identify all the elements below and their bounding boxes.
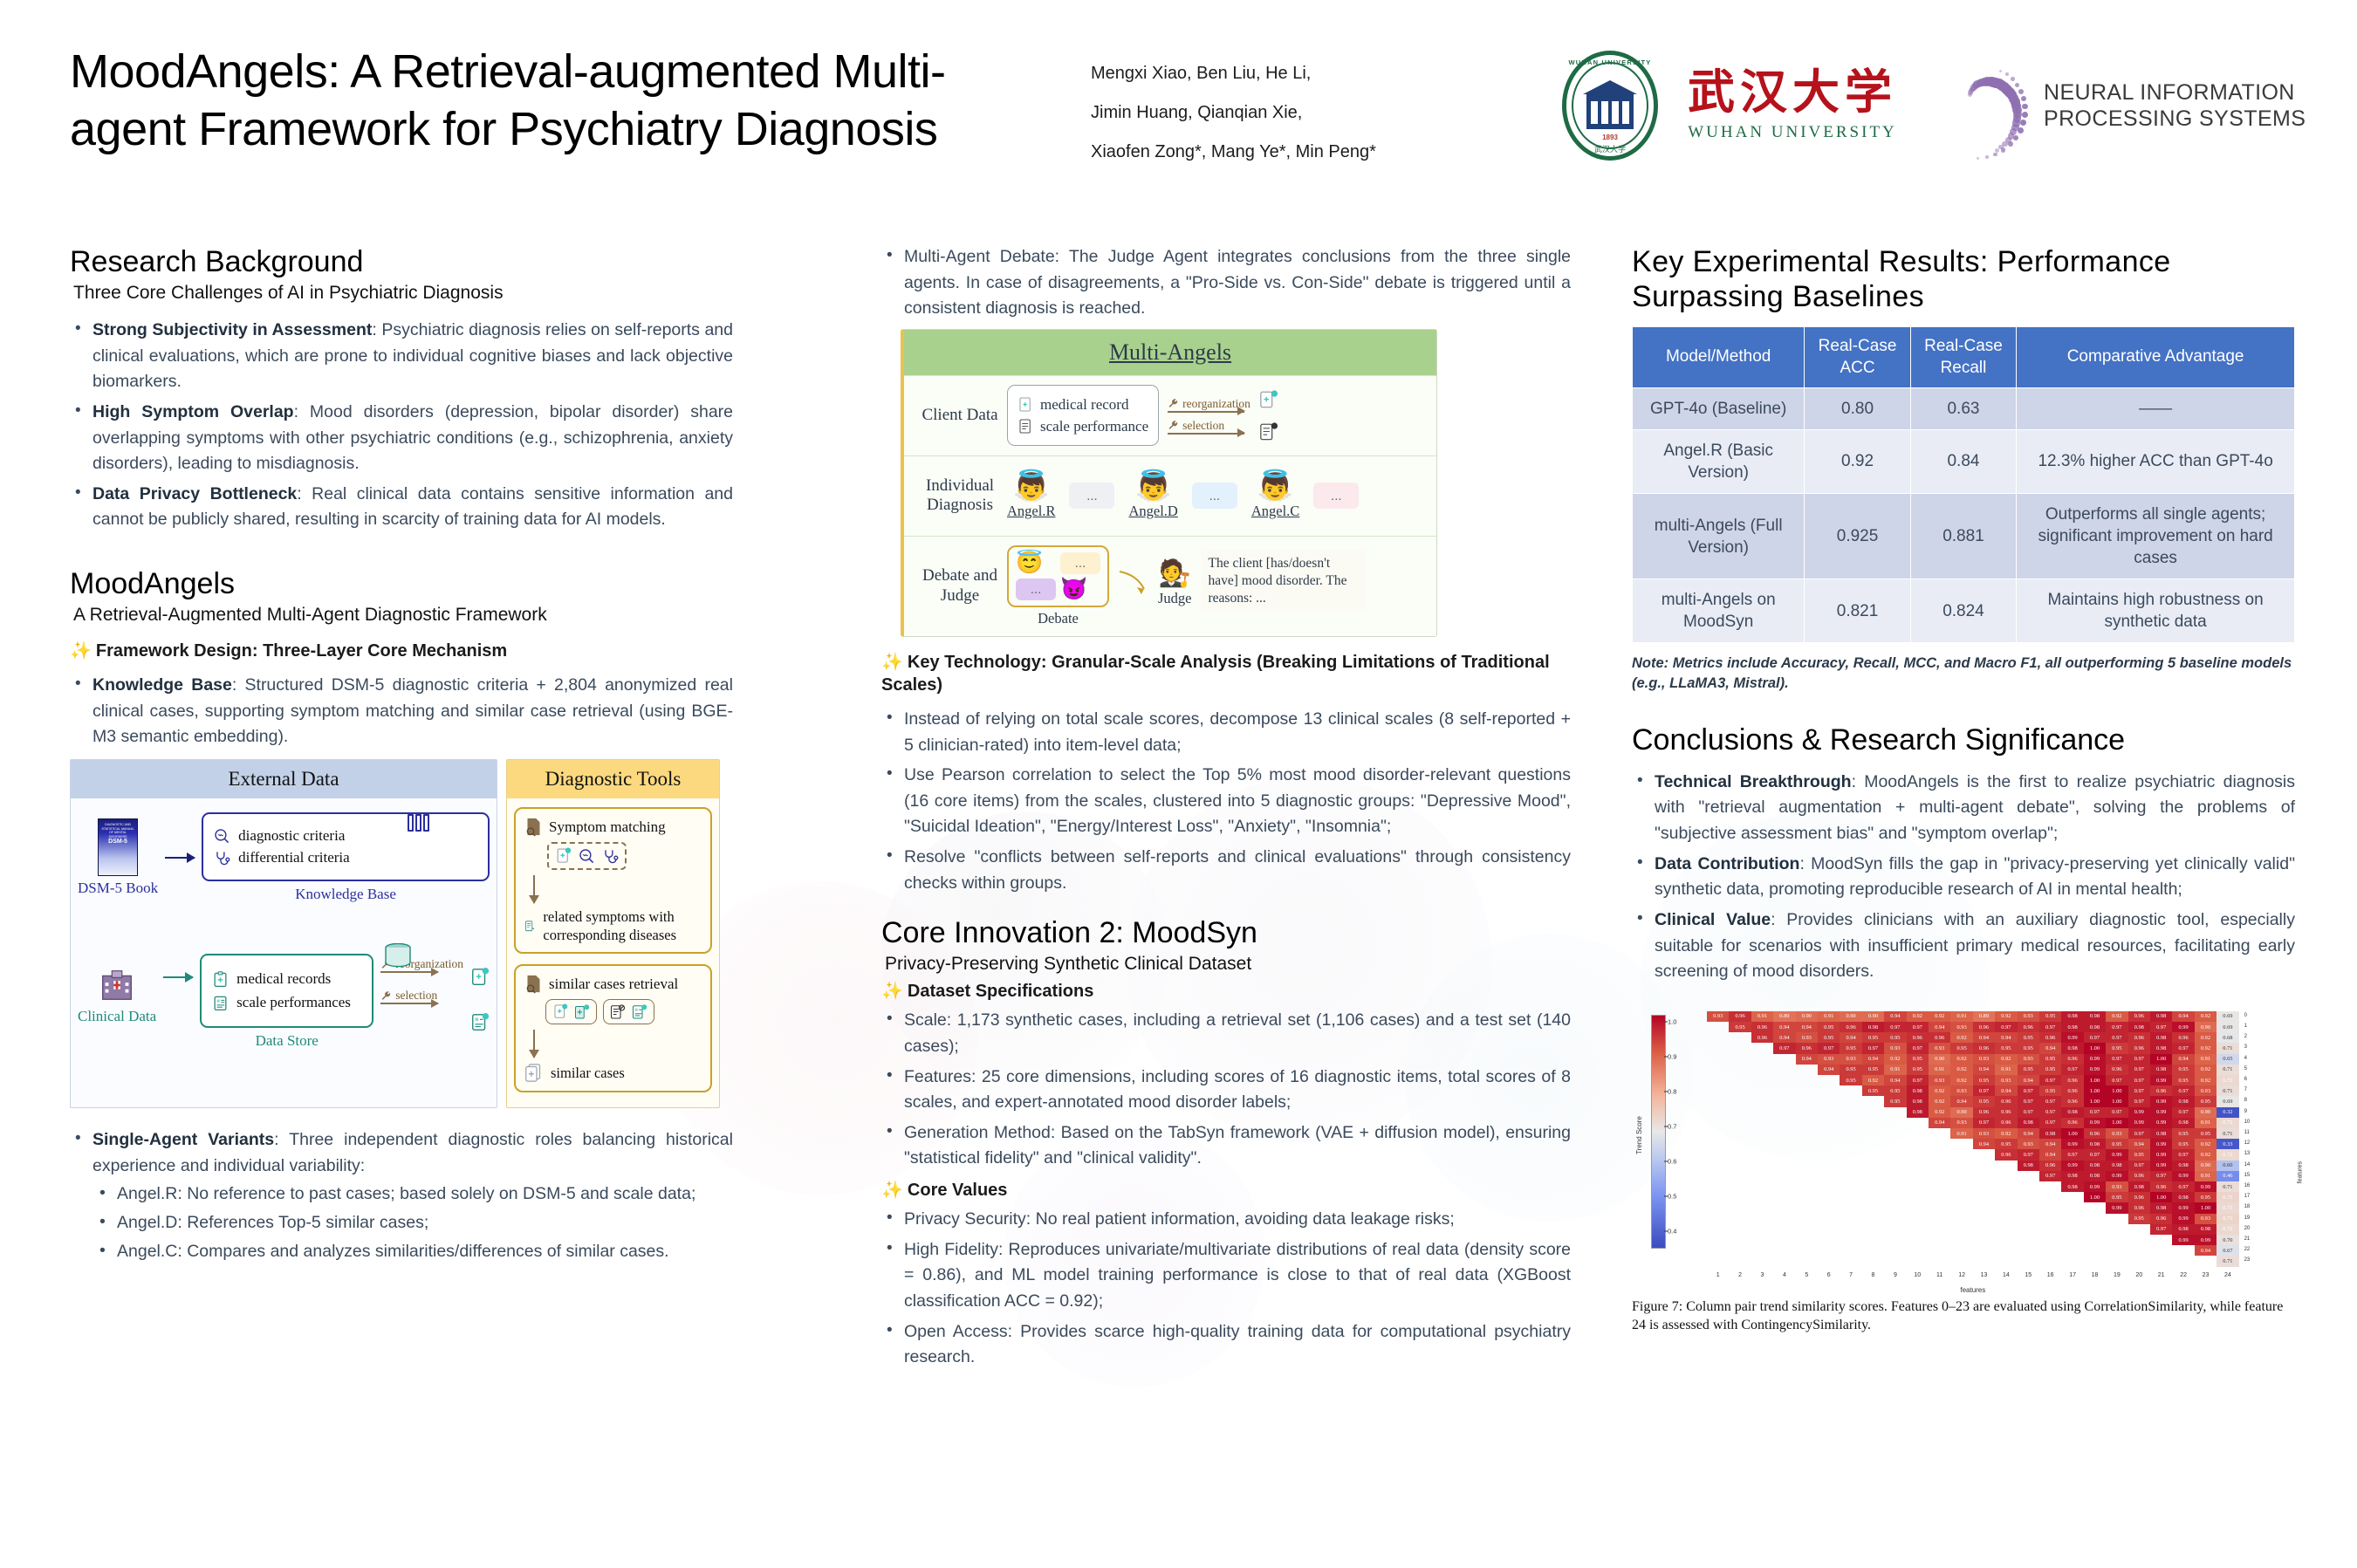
arrow-right-icon (380, 971, 438, 973)
dsm5-cover-main-text: DSM-5 (99, 839, 137, 845)
heatmap-cell: 0.95 (2106, 1192, 2127, 1202)
cell-recall: 0.881 (1910, 494, 2016, 579)
heatmap-cell: 0.92 (2106, 1011, 2127, 1022)
heatmap-cell: 0.94 (2172, 1054, 2194, 1065)
cell-model: GPT-4o (Baseline) (1633, 387, 1805, 429)
list-item: Angel.C: Compares and analyzes similarit… (92, 1239, 733, 1265)
heatmap-cell: 0.96 (2084, 1128, 2106, 1139)
table-note: Note: Metrics include Accuracy, Recall, … (1632, 654, 2295, 692)
heatmap-cell: 1.00 (2084, 1096, 2106, 1106)
tool-title-row: similar cases retrieval (524, 974, 702, 994)
agent-name: Angel.D (1128, 503, 1177, 520)
section-title-research-background: Research Background (70, 244, 733, 279)
heatmap-cell: 0.97 (2128, 1128, 2150, 1139)
neurips-dots-icon (1927, 54, 2030, 157)
heatmap-cell: 0.94 (2172, 1011, 2194, 1022)
heatmap-cell: 0.97 (2172, 1107, 2194, 1118)
ds-item-label: scale performances (236, 994, 351, 1011)
heatmap-cell: 0.92 (1950, 1054, 1972, 1065)
colorbar-tick: 0.9 (1668, 1052, 1676, 1060)
heatmap-cell: 0.72 (2217, 1224, 2238, 1235)
clinical-data-label: Clinical Data (78, 1008, 156, 1025)
flow-selection: selection (1168, 419, 1250, 435)
wuhan-chinese-wordmark: 武汉大学 (1688, 69, 1897, 116)
heatmap-cell: 0.90 (2195, 1022, 2217, 1032)
heatmap-cell: 0.99 (2150, 1149, 2172, 1160)
y-axis-label: features (2297, 1161, 2303, 1183)
heatmap-cell: 0.97 (2084, 1032, 2106, 1043)
heatmap-cell: 0.95 (1818, 1022, 1840, 1032)
heatmap-cell: 0.99 (2195, 1181, 2217, 1192)
heatmap-row-label: 17 (2244, 1194, 2257, 1199)
heatmap-cell: 1.00 (2150, 1054, 2172, 1065)
debate-bubble: ... (1060, 552, 1100, 574)
heatmap-row-label: 0 (2244, 1013, 2257, 1018)
heatmap-column-label: 23 (2197, 1272, 2215, 1278)
heatmap-column-label: 12 (1953, 1272, 1970, 1278)
heatmap-cell: 0.99 (2106, 1149, 2127, 1160)
heatmap-cell: 0.93 (1840, 1054, 1861, 1065)
debate-card: 😇 ... ... 😈 (1007, 545, 1109, 607)
heatmap-cell: 0.90 (2195, 1161, 2217, 1171)
debate-caption: Debate (1038, 610, 1079, 627)
heatmap-cell: 0.93 (1950, 1085, 1972, 1096)
heatmap-cell: 0.73 (2217, 1214, 2238, 1224)
heatmap-cell: 0.97 (1907, 1043, 1929, 1053)
heatmap-cell: 0.95 (1973, 1096, 1995, 1106)
client-data-content: medical record scale performance reorgan… (1007, 385, 1428, 446)
heatmap-cell: 0.98 (2150, 1065, 2172, 1075)
heatmap-column-label: 6 (1820, 1272, 1838, 1278)
heatmap-cell: 0.96 (2150, 1214, 2172, 1224)
heatmap-cell: 0.67 (2217, 1245, 2238, 1256)
dsm5-book-label: DSM-5 Book (78, 880, 158, 897)
database-icon (383, 943, 413, 969)
logo-group: WUHAN UNIVERSITY 1893 武汉大学 武汉大学 WUHAN UN… (1562, 51, 2306, 161)
heatmap-cell: 0.95 (1884, 1085, 1906, 1096)
angel-debater-icon: 😇 (1016, 552, 1056, 574)
heatmap-cell: 0.94 (1796, 1022, 1818, 1032)
heatmap-row-label: 12 (2244, 1140, 2257, 1146)
heatmap-cell: 0.93 (1950, 1118, 1972, 1128)
colorbar-tick: 0.6 (1668, 1157, 1676, 1165)
heatmap-cell: 1.00 (2061, 1128, 2083, 1139)
key-technology-list: Instead of relying on total scale scores… (881, 707, 1571, 896)
framework-design-heading-text: Framework Design: Three-Layer Core Mecha… (96, 641, 507, 661)
debate-judge-content: 😇 ... ... 😈 Debate 🧑‍⚖️ Judge The client… (1007, 545, 1428, 627)
heatmap-cell: 0.91 (1884, 1065, 1906, 1075)
list-item: Technical Breakthrough: MoodAngels is th… (1632, 770, 2295, 847)
heatmap-cell: 0.97 (2128, 1065, 2150, 1075)
heatmap-cell: 0.91 (1995, 1065, 2017, 1075)
kb-item-label: differential criteria (238, 849, 350, 866)
heatmap-cell: 0.95 (2195, 1096, 2217, 1106)
cell-recall: 0.824 (1910, 579, 2016, 643)
heatmap-cell: 0.96 (2128, 1202, 2150, 1213)
column-middle: Multi-Agent Debate: The Judge Agent inte… (881, 244, 1571, 1375)
heatmap-column-label: 7 (1842, 1272, 1860, 1278)
core-values-list: Privacy Security: No real patient inform… (881, 1207, 1571, 1371)
sparkles-icon: ✨ (70, 641, 92, 661)
heatmap-cell: 0.94 (1973, 1032, 1995, 1043)
heatmap-column-label: 24 (2219, 1272, 2237, 1278)
heatmap-cell: 0.97 (2172, 1149, 2194, 1160)
heatmap-cell: 0.94 (1973, 1065, 1995, 1075)
heatmap-row-label: 22 (2244, 1247, 2257, 1252)
heatmap-cell: 0.72 (2217, 1118, 2238, 1128)
heatmap-cell: 0.90 (1862, 1011, 1884, 1022)
heatmap-cell: 0.92 (1884, 1054, 1906, 1065)
heatmap-cell: 0.92 (2195, 1075, 2217, 1085)
tool-result-row: related symptoms with corresponding dise… (524, 908, 702, 944)
record-output-icon (470, 966, 490, 989)
heatmap-cell: 0.72 (2217, 1075, 2238, 1085)
heatmap-cell: 0.95 (1729, 1022, 1751, 1032)
heatmap-row-label: 16 (2244, 1183, 2257, 1188)
sparkles-icon: ✨ (881, 653, 903, 672)
heatmap-cell: 0.71 (2217, 1256, 2238, 1266)
table-row: GPT-4o (Baseline) 0.80 0.63 —— (1633, 387, 2295, 429)
list-item: Data Contribution: MoodSyn fills the gap… (1632, 852, 2295, 903)
heatmap-cell: 0.92 (2195, 1011, 2217, 1022)
heatmap-cell: 0.97 (1862, 1043, 1884, 1053)
heatmap-cell: 1.00 (2150, 1192, 2172, 1202)
heatmap-cell: 0.97 (1884, 1022, 1906, 1032)
heatmap-cell: 0.96 (1840, 1022, 1861, 1032)
heatmap-cell: 0.98 (2061, 1011, 2083, 1022)
flow-label: selection (1182, 419, 1224, 433)
heatmap-cell: 0.96 (1973, 1107, 1995, 1118)
seal-chinese-name: 武汉大学 (1562, 143, 1658, 154)
arrow-right-icon (1168, 433, 1244, 435)
heatmap-row-label: 11 (2244, 1130, 2257, 1135)
agent-output-bubble: ... (1069, 483, 1114, 509)
heatmap-column-label: 14 (1997, 1272, 2015, 1278)
dsm5-book-icon: DIAGNOSTIC AND STATISTICAL MANUAL OF MEN… (98, 818, 138, 876)
cell-acc: 0.80 (1805, 387, 1910, 429)
external-data-panel: External Data DIAGNOSTIC AND STATISTICAL… (70, 759, 497, 1108)
tool-card-similar-cases: similar cases retrieval (514, 964, 712, 1092)
heatmap-cell: 0.97 (2150, 1022, 2172, 1032)
knowledge-base-box: diagnostic criteria differential criteri… (202, 812, 490, 881)
heatmap-cell: 0.94 (1840, 1032, 1861, 1043)
heatmap-cell: 0.65 (2217, 1054, 2238, 1065)
list-item: Data Privacy Bottleneck: Real clinical d… (70, 482, 733, 533)
heatmap-cell: 0.99 (2150, 1161, 2172, 1171)
figure-7-wrapper: 0.40.50.60.70.80.91.0 Trend Score featur… (1632, 1004, 2295, 1335)
clipboard-plus-icon (555, 846, 572, 866)
heatmap-cell: 0.96 (2039, 1161, 2061, 1171)
similar-cases-icon (524, 1063, 543, 1083)
heatmap-cell: 0.96 (1907, 1032, 1929, 1043)
devil-debater-icon: 😈 (1060, 579, 1100, 600)
heatmap-cell: 0.92 (1950, 1065, 1972, 1075)
heatmap-column-label: 22 (2175, 1272, 2192, 1278)
heatmap-cell: 1.00 (2106, 1096, 2127, 1106)
heatmap-cell: 0.95 (1907, 1065, 1929, 1075)
document-search-icon (524, 817, 543, 837)
heatmap-row-label: 9 (2244, 1109, 2257, 1114)
heatmap-cell: 0.98 (2150, 1202, 2172, 1213)
agent-angel-r: 👼 Angel.R (1007, 471, 1055, 520)
cell-model: Angel.R (Basic Version) (1633, 429, 1805, 493)
arrow-down-icon (533, 1030, 535, 1058)
data-store-row: Clinical Data medical records (78, 941, 490, 1050)
heatmap-cell: 0.99 (2150, 1118, 2172, 1128)
heatmap-cell: 0.97 (2172, 1043, 2194, 1053)
section-subtitle-moodsyn: Privacy-Preserving Synthetic Clinical Da… (885, 954, 1571, 975)
heatmap-cell: 1.00 (2084, 1085, 2106, 1096)
heatmap-cell: 0.97 (2018, 1149, 2039, 1160)
cell-model: multi-Angels (Full Version) (1633, 494, 1805, 579)
heatmap-row-label: 8 (2244, 1098, 2257, 1103)
arrow-down-icon (533, 875, 535, 903)
heatmap-cell: 0.97 (2084, 1107, 2106, 1118)
author-line-2: Jimin Huang, Qianqian Xie, (1091, 93, 1545, 133)
debate-judge-row: Debate and Judge 😇 ... ... 😈 Debate 🧑‍⚖️… (904, 536, 1436, 636)
heatmap-cell: 0.97 (2039, 1096, 2061, 1106)
heatmap-cell: 0.92 (2195, 1032, 2217, 1043)
heatmap-cell: 0.95 (1884, 1096, 1906, 1106)
flow-selection: selection (380, 989, 463, 1004)
heatmap-cell: 0.96 (2150, 1181, 2172, 1192)
arrow-right-icon (1168, 411, 1244, 413)
heatmap-row-label: 6 (2244, 1077, 2257, 1082)
heatmap-cell: 0.46 (2217, 1171, 2238, 1181)
heatmap-row-label: 20 (2244, 1226, 2257, 1231)
section-title-moodangels: MoodAngels (70, 566, 733, 601)
arrow-right-icon (380, 1003, 438, 1004)
kb-lead: Knowledge Base (92, 675, 232, 695)
heatmap-column-label: 11 (1931, 1272, 1949, 1278)
list-item: Multi-Agent Debate: The Judge Agent inte… (881, 244, 1571, 322)
heatmap-cell: 0.93 (1929, 1043, 1950, 1053)
cell-recall: 0.84 (1910, 429, 2016, 493)
heatmap-cell: 0.97 (2039, 1075, 2061, 1085)
wuhan-english-wordmark: WUHAN UNIVERSITY (1688, 123, 1897, 142)
multi-angels-title-bar: Multi-Angels (904, 330, 1436, 375)
heatmap-cell: 0.94 (1950, 1096, 1972, 1106)
heatmap-cell: 0.70 (2217, 1235, 2238, 1245)
heatmap-column-label: 9 (1887, 1272, 1904, 1278)
heatmap-cell: 0.93 (2106, 1181, 2127, 1192)
sparkles-icon: ✨ (881, 1181, 903, 1200)
heatmap-cell: 0.94 (1973, 1139, 1995, 1149)
heatmap-cell: 0.98 (1862, 1022, 1884, 1032)
knowledge-base-row: DIAGNOSTIC AND STATISTICAL MANUAL OF MEN… (78, 812, 490, 903)
external-data-title: External Data (71, 760, 497, 798)
heatmap-cell: 0.94 (1995, 1085, 2017, 1096)
heatmap-cell: 0.98 (1907, 1107, 1929, 1118)
poster-header: MoodAngels: A Retrieval-augmented Multi-… (0, 0, 2357, 201)
ds-item-row: scale performances (212, 994, 361, 1011)
heatmap-cell: 0.97 (2039, 1171, 2061, 1181)
list-item: High Symptom Overlap: Mood disorders (de… (70, 400, 733, 477)
client-data-outputs (1259, 388, 1278, 442)
heatmap-cell: 0.99 (2150, 1096, 2172, 1106)
heatmap-cell: 0.97 (2150, 1171, 2172, 1181)
conclusion-lead: Data Contribution (1655, 854, 1799, 873)
heatmap-column-label: 19 (2108, 1272, 2126, 1278)
knowledge-base-caption: Knowledge Base (202, 886, 490, 903)
heatmap-cell: 0.99 (2084, 1118, 2106, 1128)
x-axis-label: features (1707, 1286, 2239, 1294)
heatmap-cell: 0.96 (1995, 1107, 2017, 1118)
section-title-key-results: Key Experimental Results: Performance Su… (1632, 244, 2295, 314)
heatmap-cell: 0.98 (2061, 1043, 2083, 1053)
document-search-icon (524, 974, 543, 994)
heatmap-cell: 0.92 (1929, 1096, 1950, 1106)
heatmap-cell: 0.68 (2217, 1032, 2238, 1043)
heatmap-cell: 1.00 (2084, 1075, 2106, 1085)
heatmap-cell: 0.93 (1995, 1075, 2017, 1085)
heatmap-cell: 0.90 (1840, 1011, 1861, 1022)
heatmap-column-label: 2 (1731, 1272, 1749, 1278)
flow-output-icons (470, 941, 490, 1034)
heatmap-cell: 0.96 (1995, 1096, 2017, 1106)
stethoscope-icon (214, 850, 230, 866)
heatmap-cell: 0.97 (2172, 1085, 2194, 1096)
heatmap-cell: 0.98 (2172, 1224, 2194, 1235)
heatmap-cell: 0.97 (2084, 1149, 2106, 1160)
client-data-item: scale performance (1017, 417, 1148, 435)
neurips-logo: NEURAL INFORMATION PROCESSING SYSTEMS (1927, 54, 2306, 157)
heatmap-cell: 0.92 (1995, 1011, 2017, 1022)
heatmap-row-label: 15 (2244, 1173, 2257, 1178)
heatmap-cell: 0.99 (2061, 1032, 2083, 1043)
dataset-specifications-heading-text: Dataset Specifications (908, 982, 1093, 1001)
heatmap-cell: 0.99 (2172, 1235, 2194, 1245)
heatmap-cell: 0.95 (1862, 1032, 1884, 1043)
angel-blue-icon: 👼 (1134, 471, 1171, 501)
heatmap-cell: 0.95 (1840, 1043, 1861, 1053)
table-row: Angel.R (Basic Version) 0.92 0.84 12.3% … (1633, 429, 2295, 493)
heatmap-column-label: 18 (2086, 1272, 2104, 1278)
heatmap-cell: 0.97 (1907, 1022, 1929, 1032)
heatmap-cell: 0.98 (2084, 1161, 2106, 1171)
heatmap-cell: 0.99 (2128, 1107, 2150, 1118)
scale-output-icon (470, 1011, 490, 1034)
neurips-line-2: PROCESSING SYSTEMS (2044, 106, 2306, 133)
heatmap-cell: 0.99 (2172, 1022, 2194, 1032)
section-title-conclusions: Conclusions & Research Significance (1632, 722, 2295, 757)
cell-model: multi-Angels on MoodSyn (1633, 579, 1805, 643)
heatmap-cell: 0.98 (2195, 1224, 2217, 1235)
ds-item-row: medical records (212, 970, 361, 988)
judge-icon: 🧑‍⚖️ (1159, 561, 1191, 587)
challenge-lead: High Symptom Overlap (92, 402, 294, 421)
heatmap-cell: 0.98 (2172, 1096, 2194, 1106)
column-header: Comparative Advantage (2017, 327, 2295, 388)
heatmap-column-label: 16 (2042, 1272, 2059, 1278)
heatmap-cell: 0.95 (1884, 1032, 1906, 1043)
wrench-icon (380, 990, 392, 1002)
heatmap-cell: 0.97 (2172, 1181, 2194, 1192)
heatmap-row-label: 5 (2244, 1066, 2257, 1072)
angel-white-icon: 👼 (1013, 471, 1050, 501)
client-data-row: Client Data medical record scale perform… (904, 375, 1436, 455)
heatmap-row-label: 10 (2244, 1120, 2257, 1125)
single-agent-lead: Single-Agent Variants (92, 1130, 274, 1149)
heatmap-cell: 0.99 (2084, 1065, 2106, 1075)
heatmap-cell: 0.96 (2172, 1032, 2194, 1043)
report-edit-icon (524, 916, 535, 936)
heatmap-cell: 0.72 (2217, 1149, 2238, 1160)
heatmap-cell: 0.99 (2061, 1161, 2083, 1171)
author-line-1: Mengxi Xiao, Ben Liu, He Li, (1091, 54, 1545, 93)
heatmap-cell: 0.93 (1818, 1054, 1840, 1065)
heatmap-cell: 0.97 (2106, 1032, 2127, 1043)
heatmap-column-label: 17 (2064, 1272, 2081, 1278)
heatmap-cell: 0.93 (2195, 1085, 2217, 1096)
tool-result-row: similar cases (524, 1063, 702, 1083)
heatmap-cell: 0.94 (2195, 1245, 2217, 1256)
conclusions-list: Technical Breakthrough: MoodAngels is th… (1632, 770, 2295, 985)
medical-record-icon (212, 971, 229, 988)
individual-diagnosis-content: 👼 Angel.R ... 👼 Angel.D ... 👼 Angel.C ..… (1007, 471, 1428, 520)
heatmap-cell: 0.92 (1907, 1011, 1929, 1022)
column-left: Research Background Three Core Challenge… (70, 244, 733, 1269)
heatmap-cell: 0.90 (1950, 1107, 1972, 1118)
heatmap-row-label: 23 (2244, 1257, 2257, 1263)
heatmap-cell: 0.94 (1818, 1065, 1840, 1075)
tool-result-label: similar cases (551, 1065, 625, 1083)
heatmap-row-label: 3 (2244, 1044, 2257, 1050)
author-line-3: Xiaofen Zong*, Mang Ye*, Min Peng* (1091, 133, 1545, 172)
heatmap-cell: 0.99 (2084, 1181, 2106, 1192)
heatmap-cell: 0.95 (2106, 1043, 2127, 1053)
sparkles-icon: ✨ (881, 982, 903, 1001)
heatmap-cell: 0.94 (1773, 1032, 1795, 1043)
heatmap-cell: 0.95 (2172, 1128, 2194, 1139)
list-item: Instead of relying on total scale scores… (881, 707, 1571, 758)
heatmap-cell: 0.96 (2061, 1096, 2083, 1106)
heatmap-cell: 0.98 (2039, 1128, 2061, 1139)
heatmap-cell: 0.95 (2128, 1149, 2150, 1160)
heatmap-cell: 0.94 (1995, 1032, 2017, 1043)
tool-title: similar cases retrieval (549, 976, 678, 993)
dsm5-cover-small-text: DIAGNOSTIC AND STATISTICAL MANUAL OF MEN… (101, 823, 134, 839)
single-agent-sublist: Angel.R: No reference to past cases; bas… (92, 1181, 733, 1264)
heatmap-cell: 0.98 (2150, 1032, 2172, 1043)
heatmap-cell: 0.99 (2106, 1171, 2127, 1181)
heatmap-cell: 0.96 (1751, 1022, 1773, 1032)
heatmap-cell: 0.93 (1796, 1032, 1818, 1043)
scale-record-icon (632, 1003, 647, 1021)
heatmap-cell: 0.93 (2018, 1011, 2039, 1022)
single-agent-list: Single-Agent Variants: Three independent… (70, 1127, 733, 1264)
heatmap-cell: 0.96 (1995, 1118, 2017, 1128)
heatmap-cell: 0.94 (1929, 1022, 1950, 1032)
heatmap-cell: 0.97 (2106, 1107, 2127, 1118)
key-technology-heading: ✨Key Technology: Granular-Scale Analysis… (881, 651, 1571, 696)
external-data-body: DIAGNOSTIC AND STATISTICAL MANUAL OF MEN… (71, 798, 497, 1107)
heatmap-cell: 0.98 (2084, 1011, 2106, 1022)
debate-judge-label: Debate and Judge (913, 566, 1007, 606)
heatmap-cell: 0.92 (1995, 1054, 2017, 1065)
heatmap-row-label: 4 (2244, 1056, 2257, 1061)
heatmap-cell: 0.98 (2084, 1022, 2106, 1032)
cell-advantage: Outperforms all single agents; significa… (2017, 494, 2295, 579)
heatmap-cell: 0.99 (2172, 1171, 2194, 1181)
heatmap-cell: 0.97 (2061, 1065, 2083, 1075)
heatmap-column-label: 8 (1865, 1272, 1882, 1278)
record-output-icon (1259, 388, 1278, 410)
heatmap-cell: 0.95 (1907, 1054, 1929, 1065)
client-data-card: medical record scale performance (1007, 385, 1159, 446)
heatmap-cell: 0.98 (2084, 1139, 2106, 1149)
heatmap-cell: 0.97 (2061, 1149, 2083, 1160)
